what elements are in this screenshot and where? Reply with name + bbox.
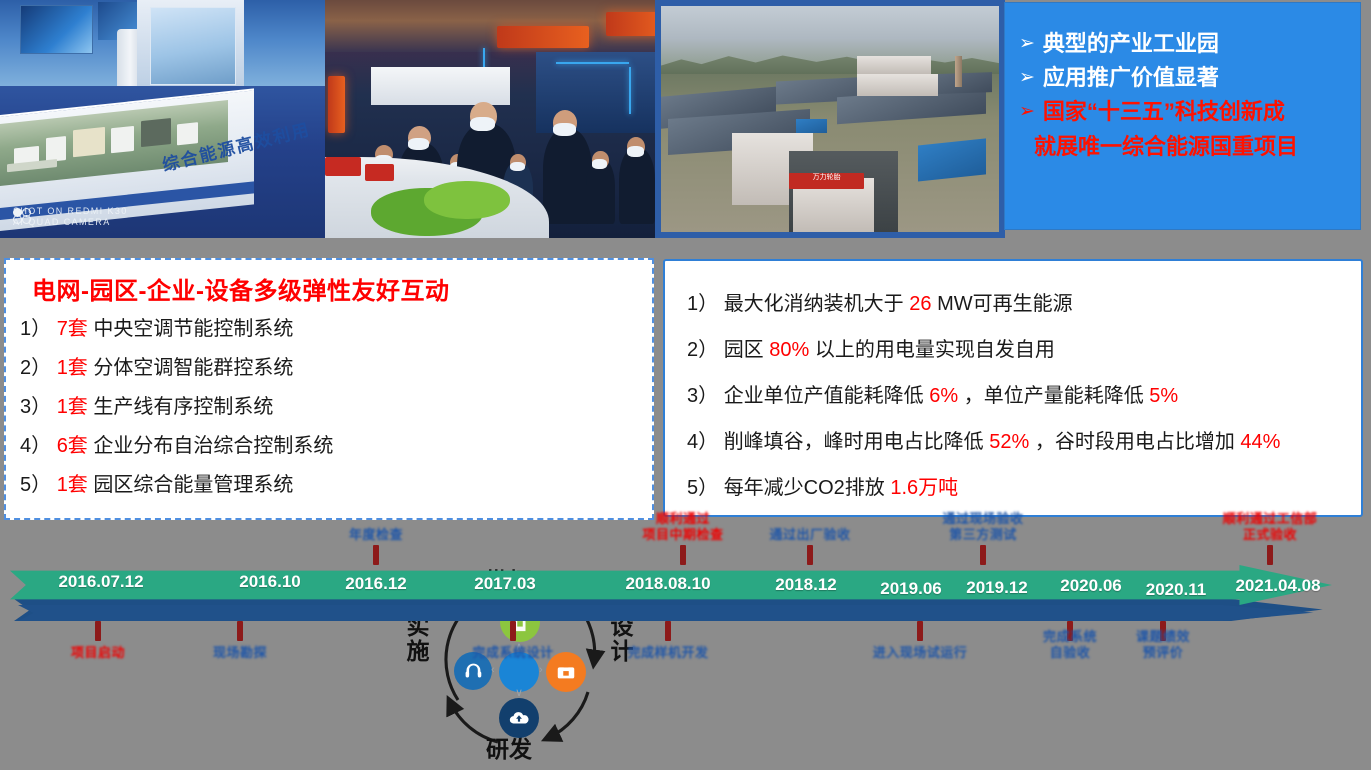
timeline-date: 2020.11 <box>1146 580 1207 600</box>
list-item: 5） 每年减少CO2排放 1.6万吨 <box>687 465 1361 511</box>
item-number: 5） <box>687 477 718 499</box>
timeline-tick-below <box>510 621 516 641</box>
timeline-tick-below <box>237 621 243 641</box>
list-item: 2） 1套 分体空调智能群控系统 <box>20 349 390 388</box>
panel-left-title: 电网-园区-企业-设备多级弹性友好互动 <box>32 271 652 306</box>
item-number: 4） <box>687 431 718 453</box>
visit-white-panel <box>371 67 510 105</box>
panel-right-list: 1） 最大化消纳装机大于 26 MW可再生能源 2） 园区 80% 以上的用电量… <box>665 261 1361 511</box>
timeline-tick-below <box>95 621 101 641</box>
timeline-date: 2020.06 <box>1060 576 1121 596</box>
list-item: 1） 最大化消纳装机大于 26 MW可再生能源 <box>687 281 1361 327</box>
timeline-band-shadow-inner <box>18 605 1314 621</box>
list-item: 3） 1套 生产线有序控制系统 <box>20 388 390 427</box>
timeline-tick-below <box>917 621 923 641</box>
item-text: 以上的用电量实现自发自用 <box>815 339 1055 361</box>
factory-frame: 万力轮胎 <box>661 6 999 232</box>
factory-blue-roof <box>796 119 826 133</box>
cycle-node-cloud[interactable] <box>499 698 539 738</box>
timeline-date: 2016.07.12 <box>58 572 143 592</box>
list-item: 5） 1套 园区综合能量管理系统 <box>20 466 390 505</box>
item-highlight: 44% <box>1240 431 1280 453</box>
timeline-tick-below <box>665 621 671 641</box>
watermark-line-2: AI QUAD CAMERA <box>13 217 128 228</box>
item-text: 最大化消纳装机大于 <box>724 293 904 315</box>
timeline-date: 2019.12 <box>966 578 1027 598</box>
visit-led-banner-1 <box>497 26 589 47</box>
item-text: 分体空调智能群控系统 <box>93 357 293 379</box>
timeline-date: 2018.08.10 <box>625 574 710 594</box>
timeline-note: 完成系统设计 <box>472 645 553 661</box>
timeline-note: 完成系统自验收 <box>1043 629 1097 661</box>
visit-led-banner-2 <box>606 12 656 36</box>
factory-chimney <box>955 56 962 88</box>
item-number: 4） <box>20 435 51 457</box>
timeline-note: 项目启动 <box>71 645 125 661</box>
item-highlight: 1套 <box>57 474 88 496</box>
timeline-date: 2019.06 <box>880 579 941 599</box>
blue-banner-item-1-text: 典型的产业工业园 <box>1043 27 1219 61</box>
cloud-upload-icon <box>508 707 530 729</box>
item-highlight: 1套 <box>57 357 88 379</box>
visit-mask <box>627 146 644 157</box>
timeline-date: 2021.04.08 <box>1235 576 1320 596</box>
visit-mask <box>510 162 525 172</box>
slide-canvas: 综合能源高效利用 SHOT ON REDMI K30 AI QUAD CAMER… <box>0 0 1371 686</box>
timeline-note: 年度检查 <box>349 527 403 543</box>
timeline-note: 顺利通过工信部正式验收 <box>1223 511 1318 543</box>
list-item: 2） 园区 80% 以上的用电量实现自发自用 <box>687 327 1361 373</box>
timeline-date: 2016.10 <box>239 572 300 592</box>
blue-banner-item-3-continuation: 就展唯一综合能源国重项目 <box>1005 129 1360 165</box>
blue-banner-item-3: ➢ 国家“十三五”科技创新成 <box>1019 95 1350 129</box>
blue-banner-item-2: ➢ 应用推广价值显著 <box>1019 61 1350 95</box>
arrow-bullet-icon: ➢ <box>1019 61 1035 95</box>
timeline-note: 通过出厂验收 <box>769 527 850 543</box>
item-text: 园区综合能量管理系统 <box>93 474 293 496</box>
timeline-tick-above <box>1267 545 1273 565</box>
item-number: 2） <box>20 357 51 379</box>
item-highlight: 7套 <box>57 318 88 340</box>
factory-building <box>857 74 938 97</box>
timeline-note: 现场勘探 <box>213 645 267 661</box>
item-number: 3） <box>687 385 718 407</box>
item-text: 生产线有序控制系统 <box>93 396 273 418</box>
photo-aerial-factory: 万力轮胎 <box>655 0 1005 238</box>
visit-person <box>619 148 655 224</box>
list-item: 4） 6套 企业分布自治综合控制系统 <box>20 427 390 466</box>
project-timeline: 2016.07.122016.102016.122017.032018.08.1… <box>0 520 1371 686</box>
visit-neon-3 <box>629 67 631 115</box>
factory-sky <box>661 6 999 65</box>
timeline-tick-above <box>807 545 813 565</box>
item-number: 1） <box>20 318 51 340</box>
item-text: 园区 <box>724 339 764 361</box>
item-number: 5） <box>20 474 51 496</box>
timeline-tick-above <box>680 545 686 565</box>
item-highlight: 5% <box>1149 385 1178 407</box>
blue-banner-item-1: ➢ 典型的产业工业园 <box>1019 27 1350 61</box>
visit-person <box>543 129 593 224</box>
item-text: 企业单位产值能耗降低 <box>724 385 924 407</box>
item-highlight: 1套 <box>57 396 88 418</box>
timeline-note: 进入现场试运行 <box>873 645 968 661</box>
item-highlight: 6套 <box>57 435 88 457</box>
panel-left-list: 1） 7套 中央空调节能控制系统 2） 1套 分体空调智能群控系统 3） 1套 … <box>6 310 390 505</box>
visit-mask <box>592 159 607 169</box>
item-text: 企业分布自治综合控制系统 <box>93 435 333 457</box>
visit-mask <box>408 138 430 150</box>
booth-poster <box>150 7 237 85</box>
visit-mask-main <box>470 117 495 131</box>
visit-model-red-part <box>365 164 395 181</box>
item-text: 每年减少CO2排放 <box>724 477 885 499</box>
factory-banner: 万力轮胎 <box>789 173 863 189</box>
list-item: 4） 削峰填谷，峰时用电占比降低 52% ，谷时段用电占比增加 44% <box>687 419 1361 465</box>
timeline-date: 2018.12 <box>775 575 836 595</box>
blue-banner-item-3-text: 国家“十三五”科技创新成 <box>1043 95 1285 129</box>
item-number: 1） <box>687 293 718 315</box>
item-highlight: 6% <box>929 385 958 407</box>
panel-multilevel-interaction: 电网-园区-企业-设备多级弹性友好互动 1） 7套 中央空调节能控制系统 2） … <box>4 258 654 520</box>
timeline-note: 课题绩效预评价 <box>1136 629 1190 661</box>
arrow-bullet-icon: ➢ <box>1019 95 1035 129</box>
list-item: 1） 7套 中央空调节能控制系统 <box>20 310 390 349</box>
item-text: ，单位产量能耗降低 <box>964 385 1144 407</box>
item-text: ，谷时段用电占比增加 <box>1035 431 1235 453</box>
timeline-note: 顺利通过项目中期检查 <box>642 511 723 543</box>
photo-exhibition-booth: 综合能源高效利用 SHOT ON REDMI K30 AI QUAD CAMER… <box>0 0 325 238</box>
timeline-tick-above <box>980 545 986 565</box>
item-text: 削峰填谷，峰时用电占比降低 <box>724 431 984 453</box>
item-highlight: 26 <box>909 293 931 315</box>
blue-banner-list: ➢ 典型的产业工业园 ➢ 应用推广价值显著 ➢ 国家“十三五”科技创新成 <box>1005 3 1360 129</box>
visit-model-red-part <box>325 157 361 176</box>
list-item: 3） 企业单位产值能耗降低 6% ，单位产量能耗降低 5% <box>687 373 1361 419</box>
timeline-date: 2016.12 <box>345 574 406 594</box>
booth-screen-left <box>20 5 94 55</box>
item-highlight: 52% <box>989 431 1029 453</box>
timeline-tick-above <box>373 545 379 565</box>
watermark-line-1: SHOT ON REDMI K30 <box>13 206 128 217</box>
item-highlight: 1.6万吨 <box>890 477 958 499</box>
visit-mask <box>553 123 576 136</box>
visit-neon-2 <box>556 62 629 64</box>
factory-plant-block <box>857 56 931 74</box>
item-text: 中央空调节能控制系统 <box>93 318 293 340</box>
photo-delegation-visit <box>325 0 655 238</box>
arrow-bullet-icon: ➢ <box>1019 27 1035 61</box>
timeline-note: 完成样机开发 <box>627 645 708 661</box>
blue-highlight-banner: ➢ 典型的产业工业园 ➢ 应用推广价值显著 ➢ 国家“十三五”科技创新成 就展唯… <box>1005 3 1360 229</box>
cycle-connector-down: ∨ <box>515 686 523 699</box>
visit-person <box>586 159 616 223</box>
timeline-date: 2017.03 <box>474 574 535 594</box>
item-number: 2） <box>687 339 718 361</box>
item-highlight: 80% <box>769 339 809 361</box>
blue-banner-item-2-text: 应用推广价值显著 <box>1043 61 1219 95</box>
panel-project-benefits: 1） 最大化消纳装机大于 26 MW可再生能源 2） 园区 80% 以上的用电量… <box>663 259 1363 517</box>
item-text: MW可再生能源 <box>937 293 1073 315</box>
item-number: 3） <box>20 396 51 418</box>
visit-led-side <box>328 76 345 133</box>
timeline-note: 通过现场验收第三方测试 <box>942 511 1023 543</box>
factory-blue-roof <box>918 138 986 181</box>
camera-watermark: SHOT ON REDMI K30 AI QUAD CAMERA <box>13 206 128 228</box>
visit-model-greenery <box>424 181 510 219</box>
